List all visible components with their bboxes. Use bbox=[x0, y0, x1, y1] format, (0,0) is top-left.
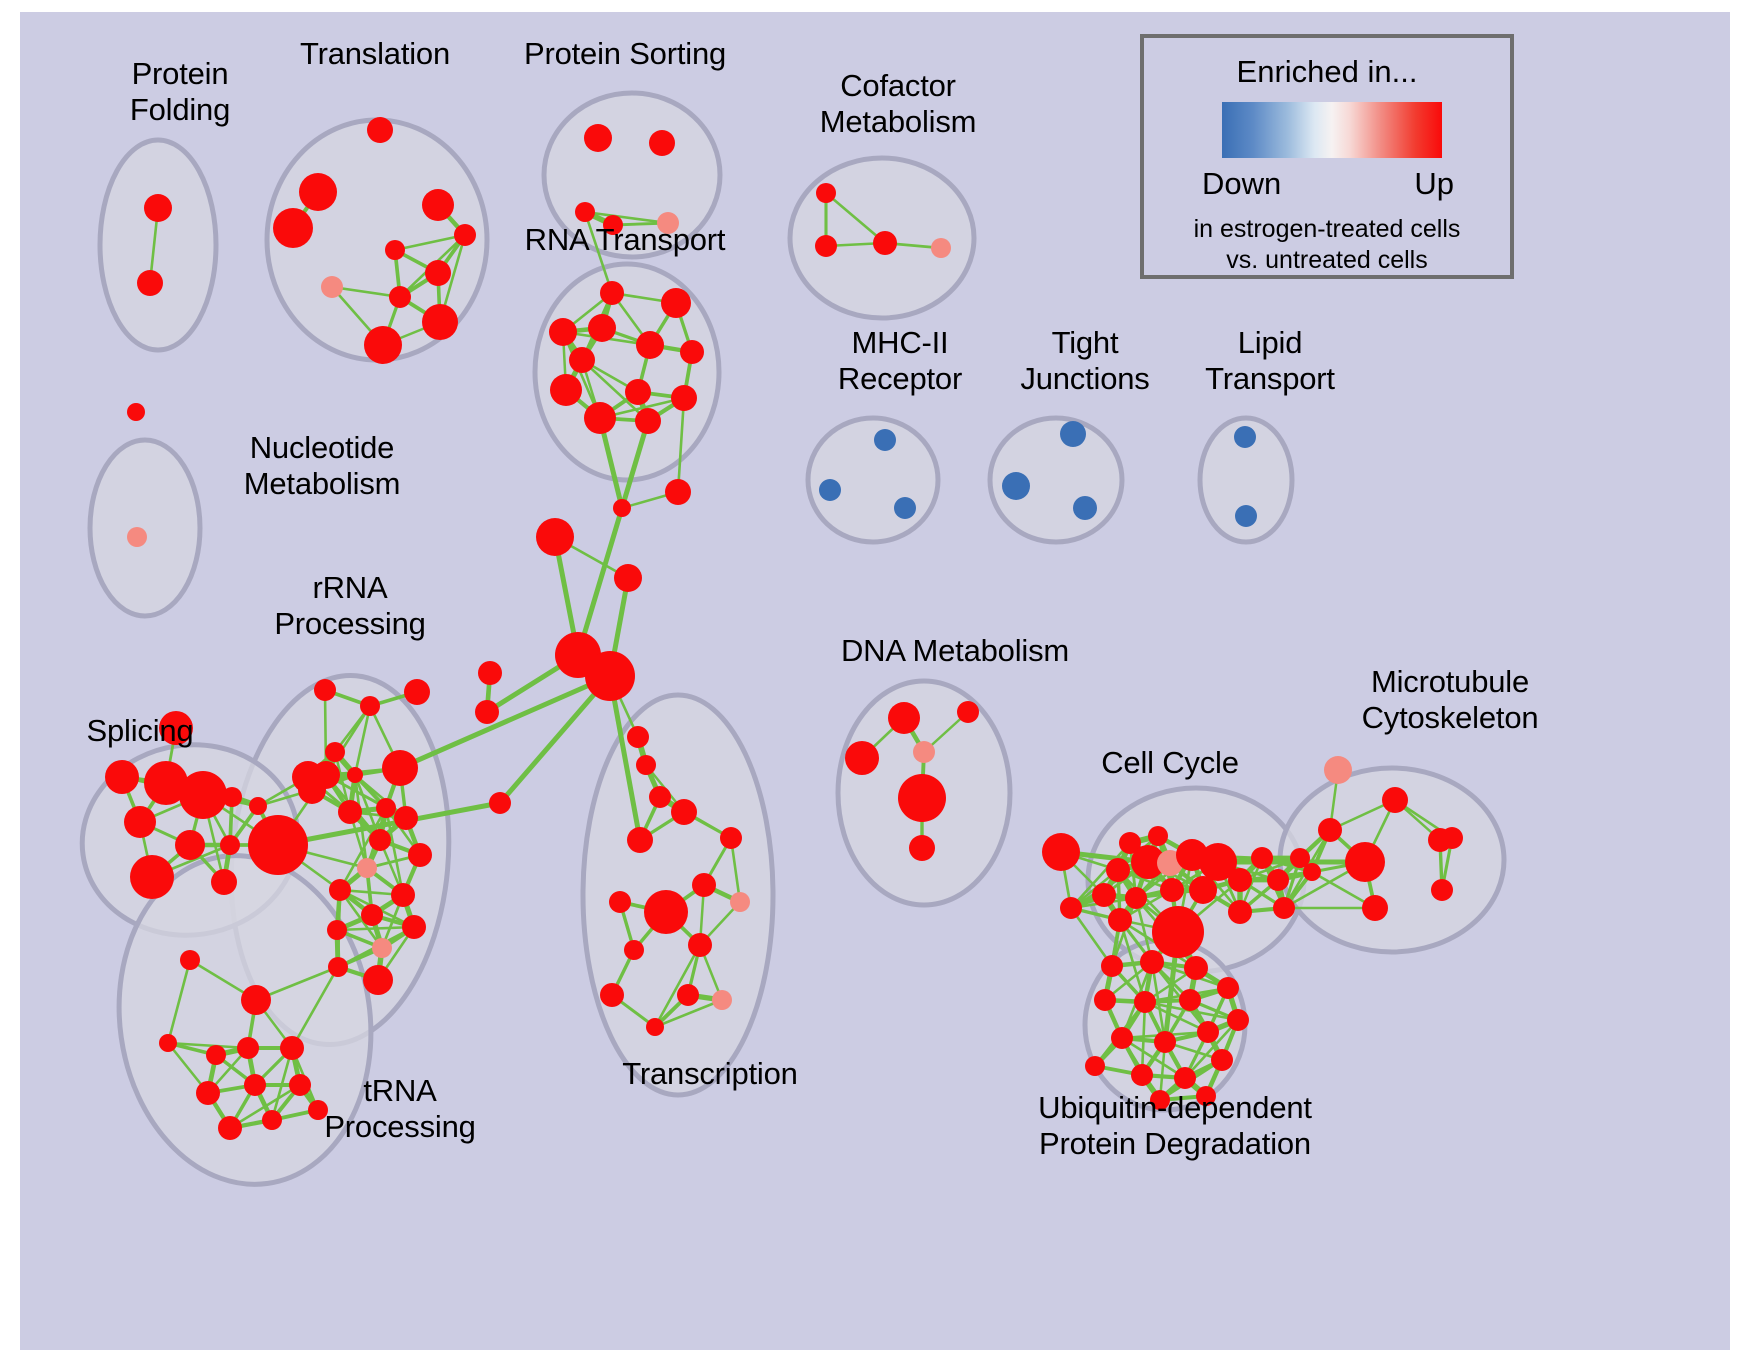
network-node[interactable] bbox=[262, 1110, 282, 1130]
network-node[interactable] bbox=[874, 429, 896, 451]
network-node[interactable] bbox=[402, 915, 426, 939]
network-node[interactable] bbox=[888, 702, 920, 734]
network-node[interactable] bbox=[328, 957, 348, 977]
network-node[interactable] bbox=[376, 798, 396, 818]
network-node[interactable] bbox=[1060, 897, 1082, 919]
network-node[interactable] bbox=[1154, 1031, 1176, 1053]
network-node[interactable] bbox=[489, 792, 511, 814]
network-node[interactable] bbox=[475, 700, 499, 724]
network-node[interactable] bbox=[1101, 955, 1123, 977]
network-node[interactable] bbox=[360, 696, 380, 716]
cluster-hull-protein-sorting bbox=[544, 93, 720, 257]
network-node[interactable] bbox=[367, 117, 393, 143]
network-node[interactable] bbox=[357, 858, 377, 878]
legend-title: Enriched in... bbox=[1144, 54, 1510, 90]
network-node[interactable] bbox=[220, 835, 240, 855]
network-node[interactable] bbox=[454, 224, 476, 246]
network-node[interactable] bbox=[549, 318, 577, 346]
network-node[interactable] bbox=[237, 1037, 259, 1059]
network-node[interactable] bbox=[248, 815, 308, 875]
network-node[interactable] bbox=[249, 797, 267, 815]
cluster-hull-protein-folding bbox=[100, 140, 216, 350]
network-node[interactable] bbox=[625, 379, 651, 405]
network-node[interactable] bbox=[408, 843, 432, 867]
network-node[interactable] bbox=[1234, 426, 1256, 448]
network-node[interactable] bbox=[646, 1018, 664, 1036]
network-node[interactable] bbox=[661, 288, 691, 318]
network-node[interactable] bbox=[218, 1116, 242, 1140]
network-node[interactable] bbox=[720, 827, 742, 849]
network-node[interactable] bbox=[361, 904, 383, 926]
network-node[interactable] bbox=[1184, 956, 1208, 980]
network-node[interactable] bbox=[1362, 895, 1388, 921]
network-node[interactable] bbox=[909, 835, 935, 861]
network-node[interactable] bbox=[635, 408, 661, 434]
network-node[interactable] bbox=[329, 879, 351, 901]
network-node[interactable] bbox=[391, 883, 415, 907]
cluster-hull-nucleotide-metabolism bbox=[90, 440, 200, 616]
network-node[interactable] bbox=[298, 776, 326, 804]
network-node[interactable] bbox=[130, 855, 174, 899]
network-node[interactable] bbox=[1228, 900, 1252, 924]
network-node[interactable] bbox=[425, 260, 451, 286]
network-node[interactable] bbox=[404, 679, 430, 705]
network-node[interactable] bbox=[1382, 787, 1408, 813]
network-node[interactable] bbox=[1197, 1021, 1219, 1043]
legend-down-label: Down bbox=[1202, 166, 1281, 202]
network-node[interactable] bbox=[671, 385, 697, 411]
network-node[interactable] bbox=[873, 231, 897, 255]
network-node[interactable] bbox=[372, 938, 392, 958]
network-node[interactable] bbox=[644, 890, 688, 934]
network-node[interactable] bbox=[688, 933, 712, 957]
network-node[interactable] bbox=[627, 726, 649, 748]
network-node[interactable] bbox=[1160, 878, 1184, 902]
network-node[interactable] bbox=[585, 651, 635, 701]
network-node[interactable] bbox=[314, 679, 336, 701]
legend-panel: Enriched in... Down Up in estrogen-treat… bbox=[1140, 34, 1514, 279]
network-node[interactable] bbox=[1441, 827, 1463, 849]
network-node[interactable] bbox=[299, 173, 337, 211]
network-node[interactable] bbox=[325, 742, 345, 762]
network-node[interactable] bbox=[1150, 1090, 1170, 1110]
network-node[interactable] bbox=[815, 235, 837, 257]
network-node[interactable] bbox=[816, 183, 836, 203]
network-node[interactable] bbox=[1235, 505, 1257, 527]
network-node[interactable] bbox=[478, 661, 502, 685]
network-node[interactable] bbox=[931, 238, 951, 258]
network-node[interactable] bbox=[665, 479, 691, 505]
network-node[interactable] bbox=[680, 340, 704, 364]
network-node[interactable] bbox=[819, 479, 841, 501]
network-node[interactable] bbox=[957, 701, 979, 723]
network-node[interactable] bbox=[1060, 421, 1086, 447]
legend-up-label: Up bbox=[1414, 166, 1454, 202]
network-node[interactable] bbox=[1125, 887, 1147, 909]
network-node[interactable] bbox=[273, 208, 313, 248]
network-node[interactable] bbox=[1085, 1056, 1105, 1076]
network-node[interactable] bbox=[1431, 879, 1453, 901]
network-node[interactable] bbox=[657, 212, 679, 234]
network-node[interactable] bbox=[677, 984, 699, 1006]
network-node[interactable] bbox=[845, 741, 879, 775]
network-node[interactable] bbox=[588, 314, 616, 342]
network-node[interactable] bbox=[1227, 1009, 1249, 1031]
network-node[interactable] bbox=[206, 1045, 226, 1065]
network-node[interactable] bbox=[179, 771, 227, 819]
network-node[interactable] bbox=[649, 786, 671, 808]
network-node[interactable] bbox=[327, 920, 347, 940]
network-node[interactable] bbox=[394, 806, 418, 830]
network-node[interactable] bbox=[1111, 1027, 1133, 1049]
network-node[interactable] bbox=[364, 326, 402, 364]
network-node[interactable] bbox=[105, 760, 139, 794]
network-node[interactable] bbox=[1189, 876, 1217, 904]
network-node[interactable] bbox=[600, 983, 624, 1007]
network-node[interactable] bbox=[1228, 868, 1252, 892]
network-node[interactable] bbox=[624, 940, 644, 960]
network-node[interactable] bbox=[730, 892, 750, 912]
network-node[interactable] bbox=[627, 827, 653, 853]
network-node[interactable] bbox=[692, 873, 716, 897]
network-node[interactable] bbox=[1345, 842, 1385, 882]
network-node[interactable] bbox=[569, 347, 595, 373]
network-node[interactable] bbox=[1042, 833, 1080, 871]
network-node[interactable] bbox=[280, 1036, 304, 1060]
network-node[interactable] bbox=[1211, 1049, 1233, 1071]
network-node[interactable] bbox=[1152, 906, 1204, 958]
network-node[interactable] bbox=[338, 800, 362, 824]
network-node[interactable] bbox=[241, 985, 271, 1015]
network-node[interactable] bbox=[1148, 826, 1168, 846]
network-node[interactable] bbox=[1092, 883, 1116, 907]
network-node[interactable] bbox=[127, 527, 147, 547]
network-node[interactable] bbox=[1131, 1064, 1153, 1086]
network-node[interactable] bbox=[1251, 847, 1273, 869]
network-node[interactable] bbox=[636, 331, 664, 359]
network-node[interactable] bbox=[1106, 858, 1130, 882]
network-node[interactable] bbox=[1002, 472, 1030, 500]
network-node[interactable] bbox=[584, 402, 616, 434]
network-node[interactable] bbox=[422, 304, 458, 340]
network-node[interactable] bbox=[389, 286, 411, 308]
network-node[interactable] bbox=[712, 990, 732, 1010]
network-node[interactable] bbox=[1217, 977, 1239, 999]
network-node[interactable] bbox=[898, 774, 946, 822]
network-node[interactable] bbox=[1196, 1086, 1216, 1106]
network-node[interactable] bbox=[649, 130, 675, 156]
network-node[interactable] bbox=[1140, 950, 1164, 974]
network-node[interactable] bbox=[1108, 908, 1132, 932]
network-node[interactable] bbox=[1318, 818, 1342, 842]
network-node[interactable] bbox=[422, 189, 454, 221]
network-node[interactable] bbox=[600, 281, 624, 305]
network-node[interactable] bbox=[584, 124, 612, 152]
network-node[interactable] bbox=[308, 1100, 328, 1120]
network-node[interactable] bbox=[289, 1074, 311, 1096]
network-node[interactable] bbox=[1267, 869, 1289, 891]
network-node[interactable] bbox=[159, 1034, 177, 1052]
network-node[interactable] bbox=[1073, 496, 1097, 520]
network-node[interactable] bbox=[1134, 991, 1156, 1013]
network-node[interactable] bbox=[913, 741, 935, 763]
network-node[interactable] bbox=[1174, 1067, 1196, 1089]
network-node[interactable] bbox=[614, 564, 642, 592]
network-node[interactable] bbox=[385, 240, 405, 260]
network-node[interactable] bbox=[369, 829, 391, 851]
network-node[interactable] bbox=[382, 750, 418, 786]
network-node[interactable] bbox=[124, 806, 156, 838]
network-node[interactable] bbox=[603, 215, 623, 235]
network-node[interactable] bbox=[550, 374, 582, 406]
network-node[interactable] bbox=[1179, 989, 1201, 1011]
network-node[interactable] bbox=[175, 830, 205, 860]
network-node[interactable] bbox=[1273, 897, 1295, 919]
network-node[interactable] bbox=[636, 755, 656, 775]
network-node[interactable] bbox=[244, 1074, 266, 1096]
network-node[interactable] bbox=[144, 194, 172, 222]
color-scale-bar bbox=[1222, 102, 1442, 158]
network-node[interactable] bbox=[671, 799, 697, 825]
network-node[interactable] bbox=[894, 497, 916, 519]
network-node[interactable] bbox=[609, 891, 631, 913]
network-node[interactable] bbox=[363, 965, 393, 995]
network-node[interactable] bbox=[1094, 989, 1116, 1011]
network-node[interactable] bbox=[211, 869, 237, 895]
network-node[interactable] bbox=[196, 1081, 220, 1105]
network-node[interactable] bbox=[159, 711, 193, 745]
network-node[interactable] bbox=[180, 950, 200, 970]
legend-subtitle: in estrogen-treated cells vs. untreated … bbox=[1144, 214, 1510, 276]
network-node[interactable] bbox=[127, 403, 145, 421]
network-node[interactable] bbox=[1303, 863, 1321, 881]
network-node[interactable] bbox=[613, 499, 631, 517]
network-node[interactable] bbox=[536, 518, 574, 556]
network-node[interactable] bbox=[1324, 756, 1352, 784]
network-node[interactable] bbox=[137, 270, 163, 296]
network-node[interactable] bbox=[575, 202, 595, 222]
network-node[interactable] bbox=[321, 276, 343, 298]
network-node[interactable] bbox=[347, 767, 363, 783]
figure-canvas: Protein FoldingTranslationProtein Sortin… bbox=[0, 0, 1750, 1360]
